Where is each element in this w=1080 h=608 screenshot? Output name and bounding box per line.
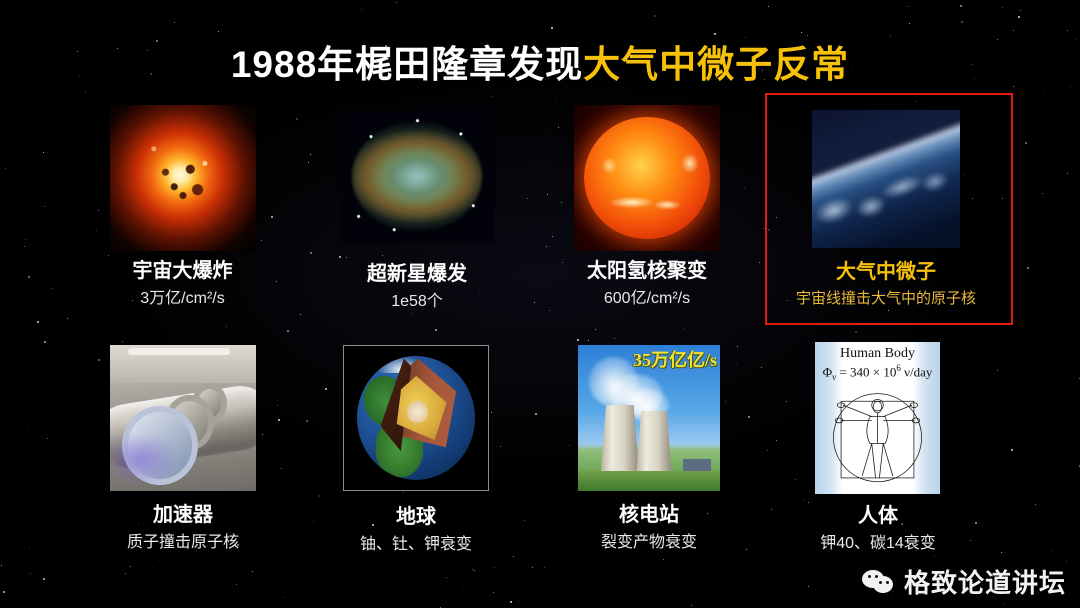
card-subtitle: 裂变产物衰变 [546,533,752,553]
page-title: 1988年梶田隆章发现大气中微子反常 [0,34,1080,88]
source-card-supernova[interactable]: 超新星爆发 1e58个 [337,110,497,312]
card-subtitle: 钾40、碳14衰变 [775,534,981,554]
card-subtitle: 宇宙线撞击大气中的原子核 [787,290,985,309]
watermark: 格致论道讲坛 [862,563,1066,600]
inset-heading: Human Body [815,346,940,362]
source-card-accelerator[interactable]: 加速器 质子撞击原子核 [110,345,256,553]
card-title: 超新星爆发 [337,262,497,287]
sun-image [574,105,720,251]
card-subtitle: 1e58个 [337,292,497,312]
earth-atmosphere-icon [812,110,960,248]
watermark-text: 格致论道讲坛 [904,563,1066,600]
source-card-nuclear-plant[interactable]: 35万亿亿/s 核电站 裂变产物衰变 [578,345,720,553]
card-title: 太阳氢核聚变 [572,259,722,284]
cosmic-explosion-icon [110,105,256,251]
card-subtitle: 铀、钍、钾衰变 [313,535,519,555]
earth-cutaway-icon [343,345,489,491]
source-card-earth[interactable]: 地球 铀、钍、钾衰变 [343,345,489,555]
card-title: 宇宙大爆炸 [105,259,260,284]
particle-accelerator-icon [110,345,256,491]
vitruvian-drawing [820,382,935,491]
source-card-human-body[interactable]: Human Body Φν = 340 × 106 ν/day [815,342,940,554]
wechat-icon [862,568,896,596]
crab-nebula-icon [340,110,495,243]
card-title: 核电站 [546,503,752,528]
cooling-towers-icon: 35万亿亿/s [578,345,720,491]
big-bang-image [110,105,256,251]
card-subtitle: 3万亿/cm²/s [105,289,260,309]
source-card-big-bang[interactable]: 宇宙大爆炸 3万亿/cm²/s [105,105,260,309]
nuclear-plant-image: 35万亿亿/s [578,345,720,491]
human-body-image: Human Body Φν = 340 × 106 ν/day [815,342,940,494]
title-white-segment: 1988年梶田隆章发现 [231,44,583,85]
vitruvian-man-icon: Human Body Φν = 340 × 106 ν/day [815,342,940,494]
flux-overlay-value: 35万亿亿/s [633,346,717,372]
earth-image [343,345,489,491]
inset-formula: Φν = 340 × 106 ν/day [815,363,940,382]
card-title: 人体 [775,504,981,529]
card-title: 大气中微子 [787,260,985,285]
title-gold-segment: 大气中微子反常 [583,44,849,85]
supernova-image [340,110,495,243]
atmosphere-image [812,110,960,248]
slide-canvas: 1988年梶田隆章发现大气中微子反常 宇宙大爆炸 3万亿/cm²/s 超新星爆发… [0,0,1080,608]
card-subtitle: 600亿/cm²/s [572,289,722,309]
sun-icon [574,105,720,251]
card-title: 加速器 [80,503,286,528]
source-card-atmospheric-neutrino[interactable]: 大气中微子 宇宙线撞击大气中的原子核 [812,110,960,309]
card-subtitle: 质子撞击原子核 [80,533,286,553]
source-card-solar-fusion[interactable]: 太阳氢核聚变 600亿/cm²/s [572,105,722,309]
card-title: 地球 [313,505,519,530]
accelerator-image [110,345,256,491]
